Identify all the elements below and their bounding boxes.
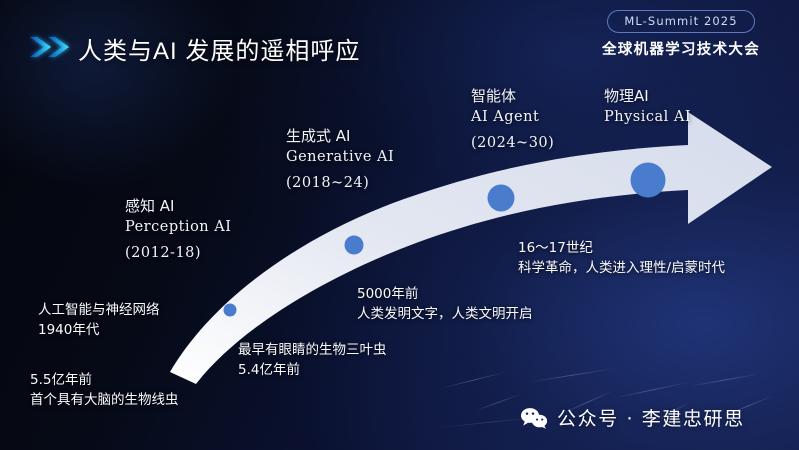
event-line-2: 首个具有大脑的生物线虫	[30, 391, 179, 411]
slide-canvas: 人类与AI 发展的遥相呼应 ML-Summit 2025 全球机器学习技术大会 …	[0, 0, 799, 450]
stage-cn: 智能体	[471, 86, 554, 107]
timeline-dot	[631, 163, 666, 198]
event-label-writing-invented: 5000年前 人类发明文字，人类文明开启	[357, 285, 533, 324]
event-line-1: 最早有眼睛的生物三叶虫	[238, 341, 387, 361]
stage-years: (2018~24)	[286, 173, 394, 194]
footer-watermark: 公众号 · 李建忠研思	[520, 404, 745, 431]
timeline-dot	[224, 304, 237, 317]
stage-label-generative: 生成式 AI Generative AI (2018~24)	[286, 126, 394, 193]
stage-en: Generative AI	[286, 147, 394, 168]
stage-cn: 物理AI	[604, 86, 691, 107]
event-line-1: 16～17世纪	[518, 239, 725, 259]
timeline-dot	[488, 185, 515, 212]
stage-years: (2024~30)	[471, 133, 554, 154]
event-line-2: 5.4亿年前	[238, 361, 387, 381]
event-label-scientific-revolution: 16～17世纪 科学革命，人类进入理性/启蒙时代	[518, 239, 725, 278]
stage-label-ai-agent: 智能体 AI Agent (2024~30)	[471, 86, 554, 153]
timeline-dot	[345, 236, 364, 255]
footer-text: 公众号 · 李建忠研思	[557, 404, 745, 431]
event-line-1: 5.5亿年前	[30, 371, 179, 391]
stage-en: AI Agent	[471, 107, 554, 128]
stage-cn: 生成式 AI	[286, 126, 394, 147]
event-line-2: 1940年代	[38, 321, 160, 341]
stage-en: Perception AI	[125, 217, 231, 238]
event-label-first-brain-worm: 5.5亿年前 首个具有大脑的生物线虫	[30, 371, 179, 410]
event-line-2: 人类发明文字，人类文明开启	[357, 305, 533, 325]
event-line-1: 人工智能与神经网络	[38, 301, 160, 321]
stage-label-physical-ai: 物理AI Physical AI	[604, 86, 691, 128]
event-label-neural-networks: 人工智能与神经网络 1940年代	[38, 301, 160, 340]
stage-years: (2012-18)	[125, 243, 231, 264]
event-line-2: 科学革命，人类进入理性/启蒙时代	[518, 259, 725, 279]
wechat-icon	[520, 407, 548, 429]
stage-en: Physical AI	[604, 107, 691, 128]
event-line-1: 5000年前	[357, 285, 533, 305]
stage-cn: 感知 AI	[125, 196, 231, 217]
event-label-trilobite: 最早有眼睛的生物三叶虫 5.4亿年前	[238, 341, 387, 380]
stage-label-perception: 感知 AI Perception AI (2012-18)	[125, 196, 231, 263]
